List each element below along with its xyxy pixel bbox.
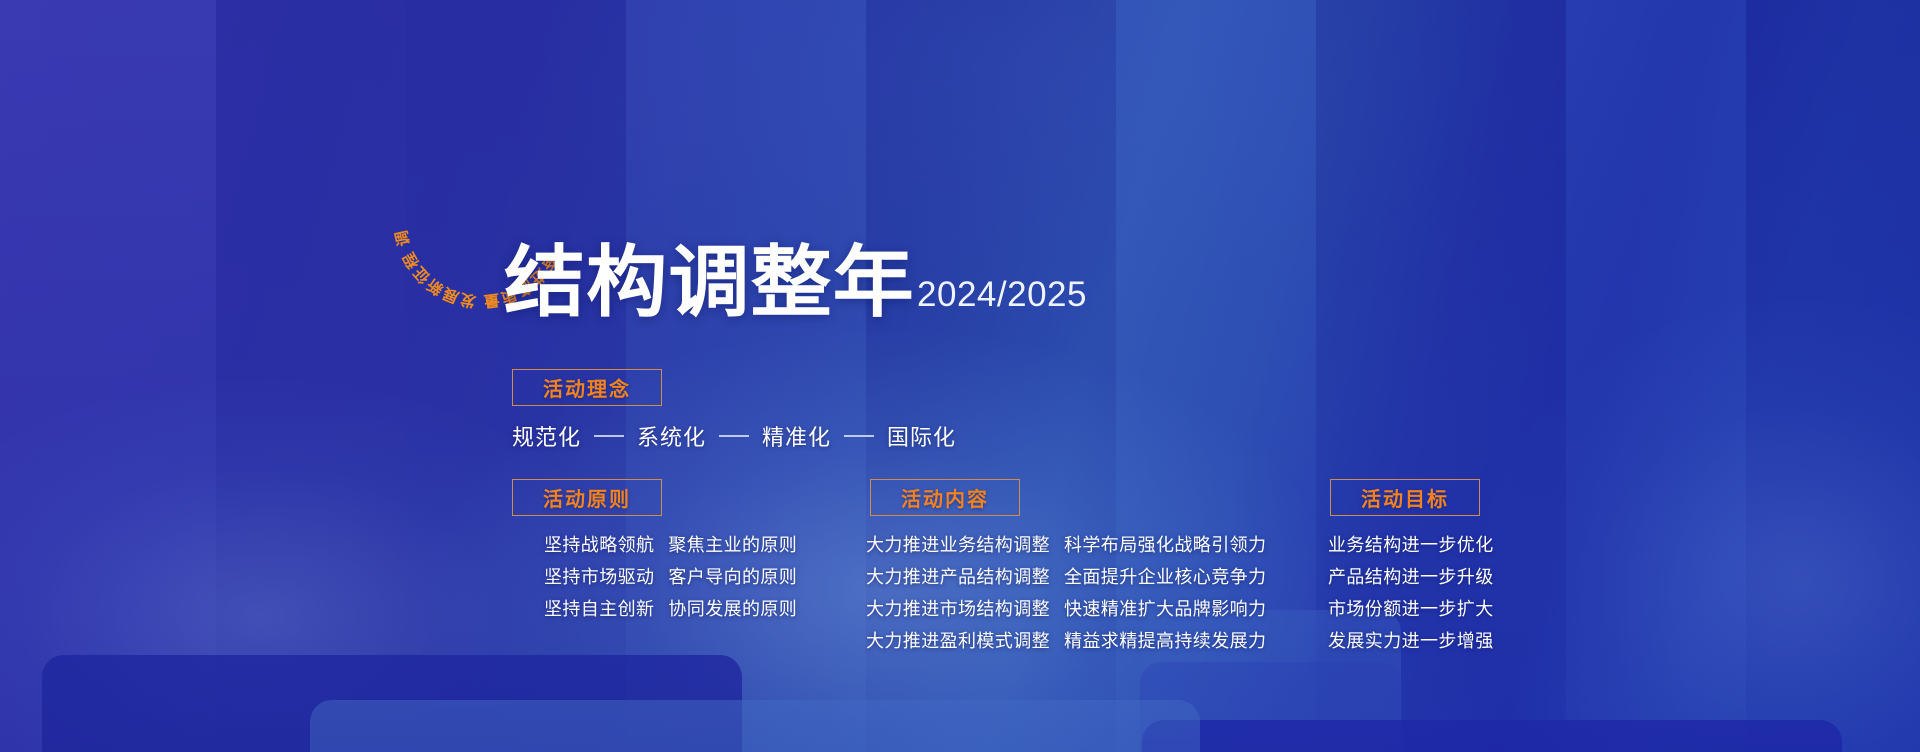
badge-activity-idea: 活动理念 [512,369,662,406]
list-item-secondary: 精益求精提高持续发展力 [1064,632,1266,651]
list-item: 业务结构进一步优化 [1328,536,1494,555]
background-band-9 [1746,0,1920,752]
list-item-primary: 业务结构进一步优化 [1328,536,1494,555]
poster-canvas: 奋进高质量 发展新征程 调结构 促转型 增动能 结构调整年 2024/2025 … [0,0,1920,752]
decorative-block-2 [310,700,1200,752]
list-item: 大力推进业务结构调整 科学布局强化战略引领力 [866,536,1266,555]
list-item: 产品结构进一步升级 [1328,568,1494,587]
idea-keyword-list: 规范化 系统化 精准化 国际化 [512,420,956,452]
list-item-primary: 大力推进市场结构调整 [866,600,1050,619]
list-item-primary: 坚持市场驱动 [544,568,654,587]
list-item: 坚持战略领航 聚焦主业的原则 [544,536,797,555]
list-item: 大力推进盈利模式调整 精益求精提高持续发展力 [866,632,1266,651]
list-item-secondary: 协同发展的原则 [668,600,797,619]
title-year-range: 2024/2025 [917,275,1087,315]
list-item: 市场份额进一步扩大 [1328,600,1494,619]
list-item-secondary: 快速精准扩大品牌影响力 [1064,600,1266,619]
badge-activity-principle: 活动原则 [512,479,662,516]
list-item: 坚持市场驱动 客户导向的原则 [544,568,797,587]
list-item-primary: 产品结构进一步升级 [1328,568,1494,587]
idea-keyword: 国际化 [887,420,956,452]
background-band-8 [1566,0,1746,752]
list-item: 发展实力进一步增强 [1328,632,1494,651]
list-item: 大力推进市场结构调整 快速精准扩大品牌影响力 [866,600,1266,619]
background-band-1 [0,0,216,752]
decorative-block-6 [1142,720,1842,752]
decorative-block-1 [42,655,742,752]
list-item-secondary: 科学布局强化战略引领力 [1064,536,1266,555]
goal-list: 业务结构进一步优化 产品结构进一步升级 市场份额进一步扩大 发展实力进一步增强 [1328,536,1494,651]
badge-activity-goal: 活动目标 [1330,479,1480,516]
list-item-primary: 坚持自主创新 [544,600,654,619]
list-item-primary: 市场份额进一步扩大 [1328,600,1494,619]
separator-dash-icon [844,435,874,437]
list-item-secondary: 全面提升企业核心竞争力 [1064,568,1266,587]
list-item: 坚持自主创新 协同发展的原则 [544,600,797,619]
list-item-secondary: 聚焦主业的原则 [668,536,797,555]
list-item: 大力推进产品结构调整 全面提升企业核心竞争力 [866,568,1266,587]
separator-dash-icon [719,435,749,437]
headline-group: 结构调整年 2024/2025 [504,244,1087,322]
list-item-secondary: 客户导向的原则 [668,568,797,587]
list-item-primary: 坚持战略领航 [544,536,654,555]
list-item-primary: 发展实力进一步增强 [1328,632,1494,651]
background-band-4 [626,0,866,752]
idea-keyword: 规范化 [512,420,581,452]
list-item-primary: 大力推进盈利模式调整 [866,632,1050,651]
content-list: 大力推进业务结构调整 科学布局强化战略引领力 大力推进产品结构调整 全面提升企业… [866,536,1266,651]
list-item-primary: 大力推进产品结构调整 [866,568,1050,587]
decorative-block-5 [1140,662,1402,752]
page-title: 结构调整年 [504,244,915,322]
idea-keyword: 精准化 [762,420,831,452]
list-item-primary: 大力推进业务结构调整 [866,536,1050,555]
idea-keyword: 系统化 [637,420,706,452]
separator-dash-icon [594,435,624,437]
badge-activity-content: 活动内容 [870,479,1020,516]
principle-list: 坚持战略领航 聚焦主业的原则 坚持市场驱动 客户导向的原则 坚持自主创新 协同发… [544,536,797,619]
background-glow-right [1480,300,1920,752]
background-band-2 [216,0,406,752]
